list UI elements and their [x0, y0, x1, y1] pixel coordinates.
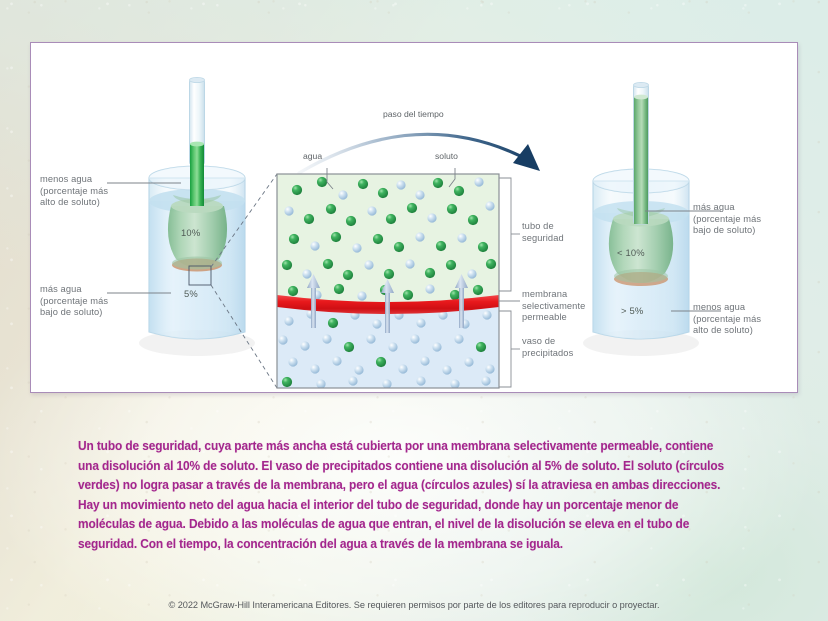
inset-water-label: agua: [303, 151, 322, 161]
inset-solute-label: soluto: [435, 151, 458, 161]
left-beaker-top-label: menos agua (porcentaje más alto de solut…: [40, 174, 128, 209]
copyright-footer: © 2022 McGraw-Hill Interamericana Editor…: [0, 600, 828, 610]
right-beaker-top-label: más agua (porcentaje más bajo de soluto): [693, 202, 789, 237]
callout-vaso-de-precipitados: vaso de precipitados: [522, 336, 602, 359]
right-beaker-percent: > 5%: [621, 305, 643, 316]
right-bulb-percent: < 10%: [617, 247, 645, 258]
right-beaker-bottom-label: menos agua (porcentaje más alto de solut…: [693, 302, 789, 337]
callout-membrana: membrana selectivamente permeable: [522, 289, 608, 324]
left-beaker-percent: 5%: [184, 288, 198, 299]
inset-panel: [277, 168, 520, 390]
figure-panel: menos agua (porcentaje más alto de solut…: [30, 42, 798, 393]
left-apparatus: [139, 77, 277, 388]
time-arrow-label: paso del tiempo: [383, 109, 444, 119]
left-beaker-bottom-label: más agua (porcentaje más bajo de soluto): [40, 284, 128, 319]
diagram-canvas: [31, 43, 797, 392]
osmosis-diagram: menos agua (porcentaje más alto de solut…: [31, 43, 797, 392]
figure-caption: Un tubo de seguridad, cuya parte más anc…: [78, 437, 730, 555]
time-arrow: [299, 134, 540, 173]
left-bulb-percent: 10%: [181, 227, 200, 238]
callout-tubo-de-seguridad: tubo de seguridad: [522, 221, 600, 244]
